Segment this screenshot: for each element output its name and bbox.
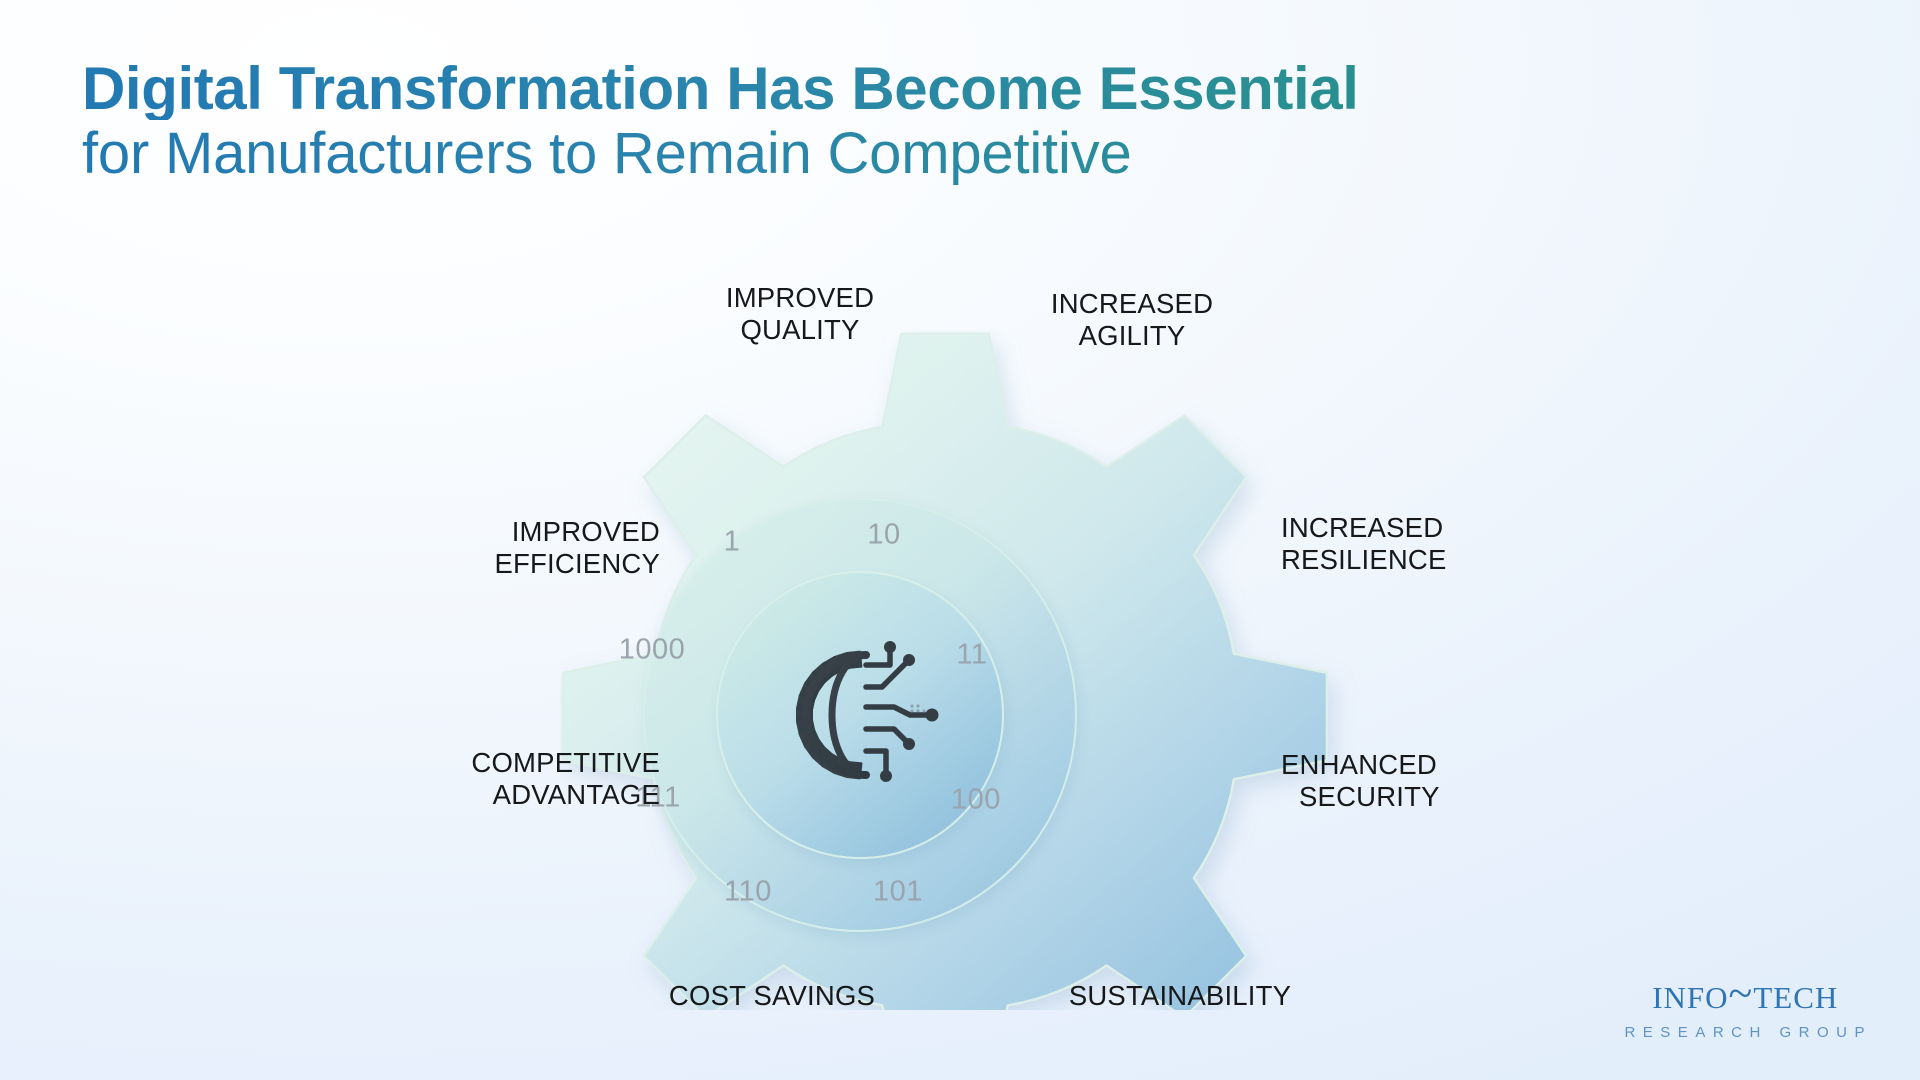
binary-label: 1000 [619,634,686,667]
benefit-label-increased-agility: INCREASED AGILITY [1051,288,1213,352]
benefit-line: SUSTAINABILITY [1069,980,1291,1012]
benefit-line: COST SAVINGS [669,980,875,1012]
logo-tagline: RESEARCH GROUP [1618,1025,1872,1040]
page-title: Digital Transformation Has Become Essent… [82,58,1782,187]
infographic-canvas: Digital Transformation Has Become Essent… [0,0,1920,1080]
gear-graphic: 1 10 1000 11 111 100 110 101 [560,330,1360,1010]
benefit-line: QUALITY [726,314,874,346]
benefit-label-sustainability: SUSTAINABILITY [1069,980,1291,1012]
logo-wordmark: Info~Tech [1618,972,1872,1016]
binary-label: 11 [956,639,987,672]
benefit-line: RESILIENCE [1281,544,1447,576]
binary-label: 1 [724,526,741,559]
benefit-label-improved-quality: IMPROVED QUALITY [726,282,874,346]
binary-label: 100 [951,784,1001,817]
benefit-line: INCREASED [1051,288,1213,320]
benefit-label-competitive-advantage: COMPETITIVE ADVANTAGE [471,747,660,811]
benefit-line: COMPETITIVE [471,747,660,779]
benefit-line: EFFICIENCY [495,548,660,580]
benefit-line: INCREASED [1281,512,1447,544]
benefit-line: ENHANCED [1281,749,1440,781]
benefit-label-cost-savings: COST SAVINGS [669,980,875,1012]
binary-label: 101 [873,876,923,909]
info-tech-logo: Info~Tech RESEARCH GROUP [1618,972,1872,1040]
title-main: Digital Transformation Has Become Essent… [82,58,1782,120]
benefit-line: SECURITY [1281,781,1440,813]
benefit-label-enhanced-security: ENHANCED SECURITY [1281,749,1440,813]
binary-label: 110 [724,876,772,909]
binary-label: 10 [867,519,900,552]
title-subtitle: for Manufacturers to Remain Competitive [82,122,1782,187]
benefit-line: IMPROVED [495,516,660,548]
benefit-line: IMPROVED [726,282,874,314]
benefit-label-improved-efficiency: IMPROVED EFFICIENCY [495,516,660,580]
benefit-line: ADVANTAGE [471,779,660,811]
benefit-label-increased-resilience: INCREASED RESILIENCE [1281,512,1447,576]
benefit-line: AGILITY [1051,320,1213,352]
